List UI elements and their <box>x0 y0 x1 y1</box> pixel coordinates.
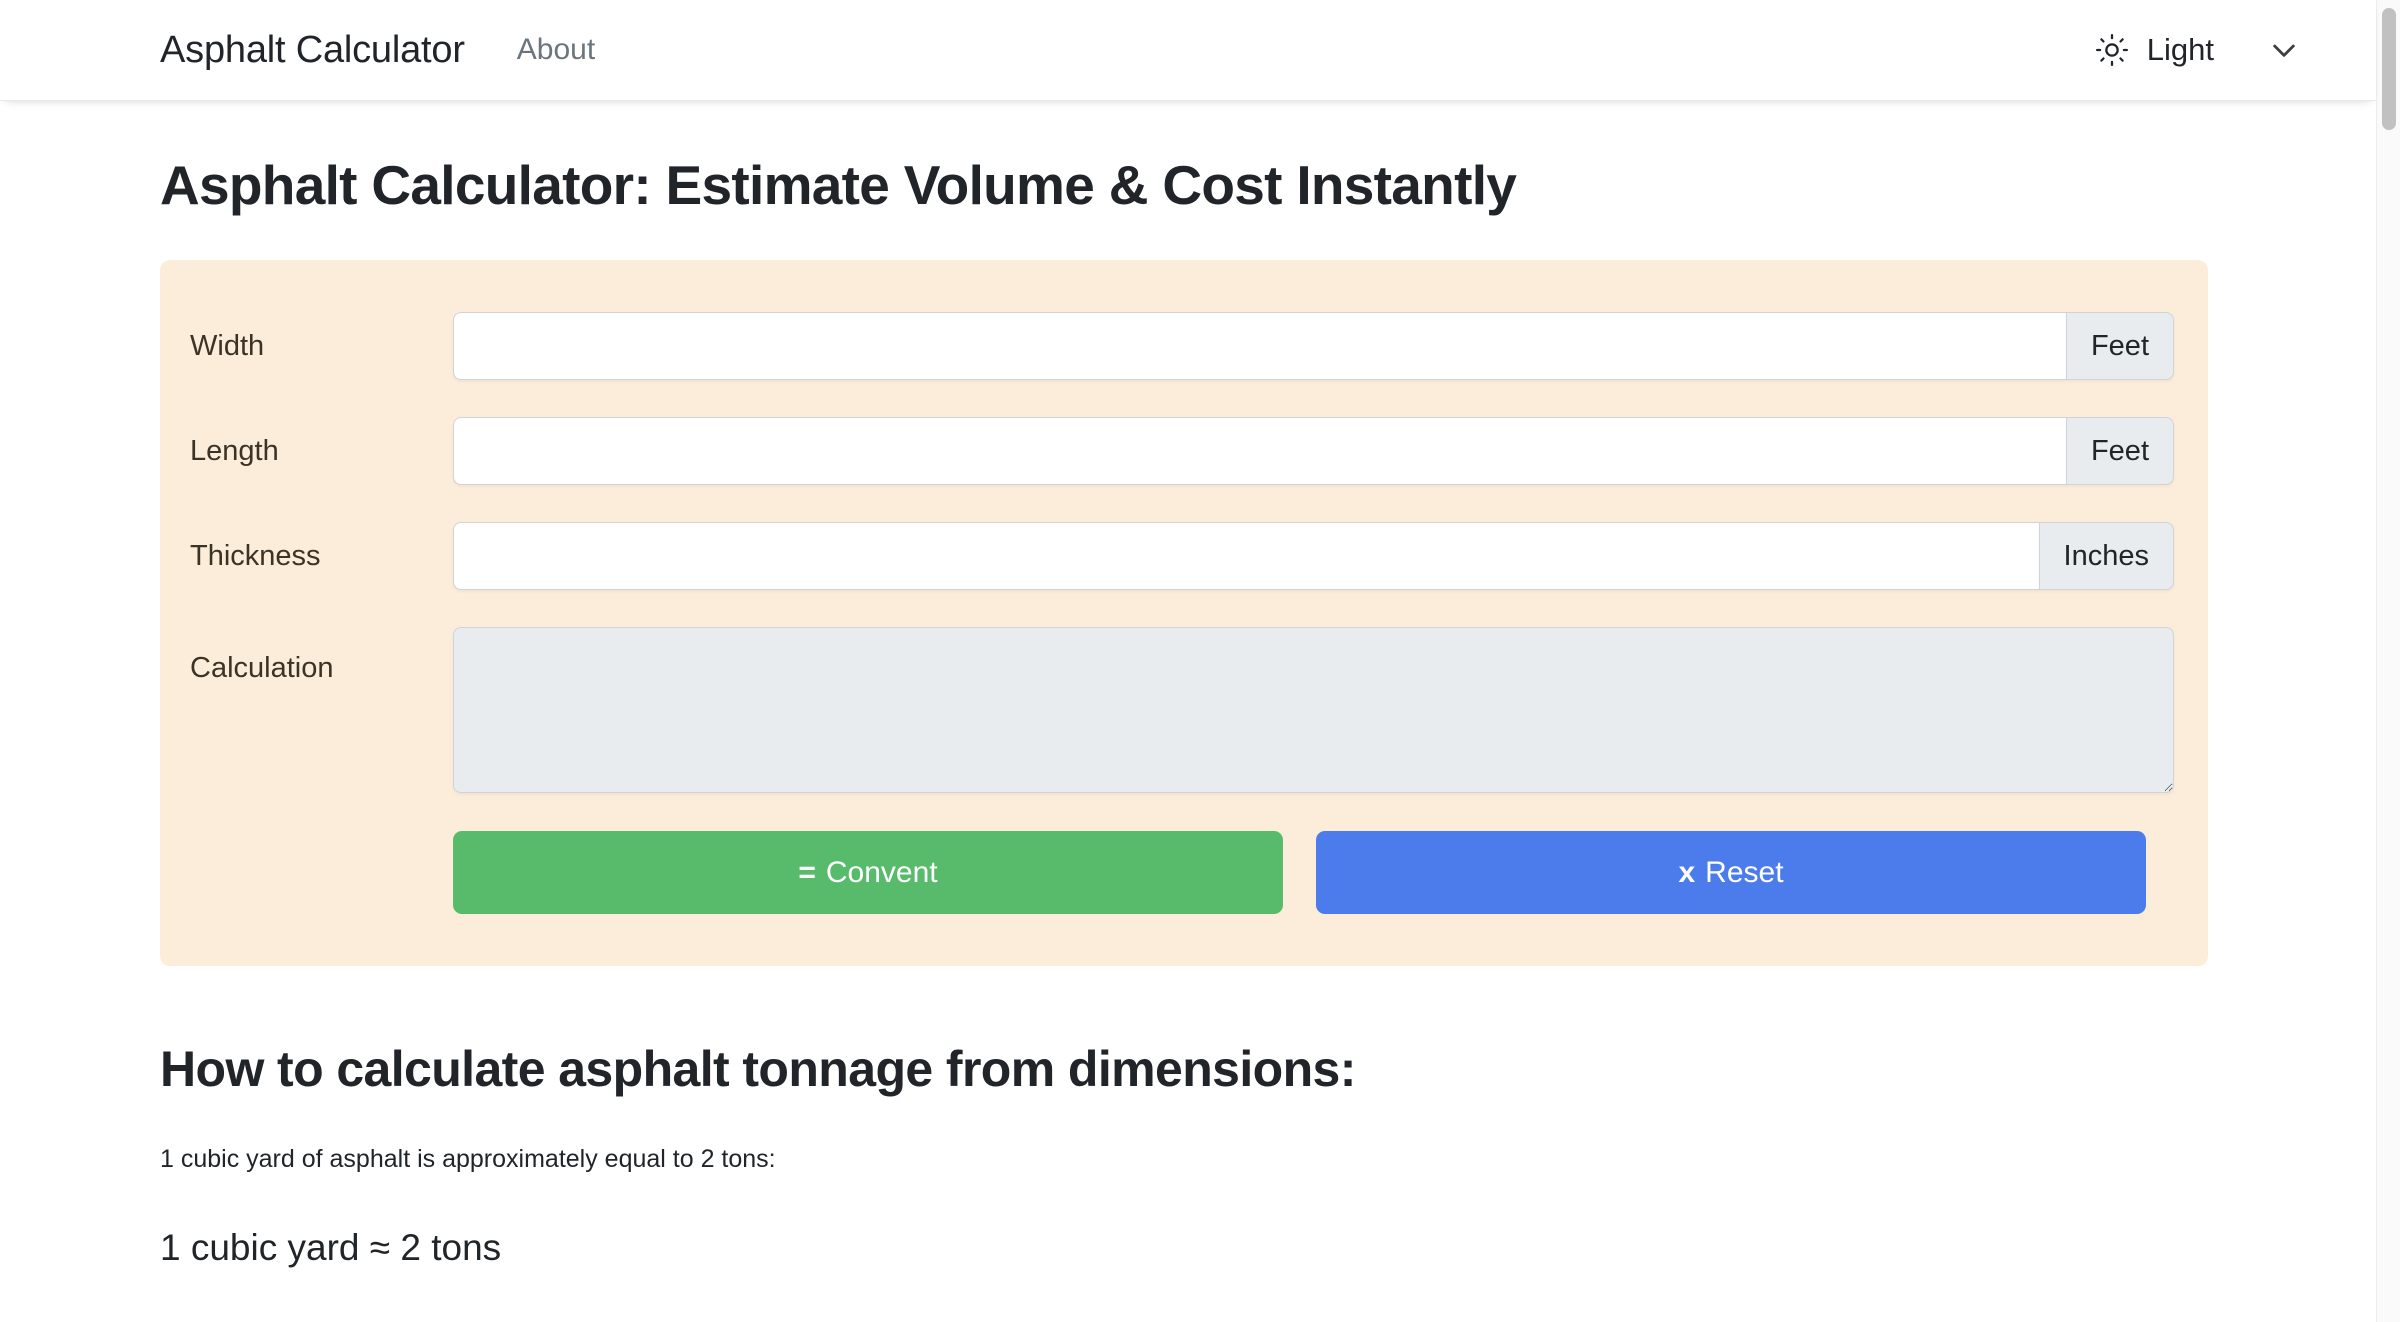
convert-glyph: = <box>798 856 816 890</box>
thickness-unit-addon[interactable]: Inches <box>2039 522 2174 590</box>
form-row-calculation: Calculation <box>160 627 2174 793</box>
browser-viewport: Asphalt Calculator About <box>0 0 2400 1322</box>
page-title: Asphalt Calculator: Estimate Volume & Co… <box>160 154 2216 217</box>
page-content: Asphalt Calculator About <box>0 0 2376 1322</box>
brand-link[interactable]: Asphalt Calculator <box>160 29 465 72</box>
howto-section: How to calculate asphalt tonnage from di… <box>160 1040 2216 1273</box>
label-thickness: Thickness <box>160 539 453 574</box>
vertical-scrollbar-thumb[interactable] <box>2382 8 2396 130</box>
thickness-input[interactable] <box>453 522 2039 590</box>
reset-label: Reset <box>1705 856 1783 890</box>
convert-button[interactable]: = Convent <box>453 831 1283 914</box>
width-unit-addon[interactable]: Feet <box>2066 312 2174 380</box>
theme-label: Light <box>2147 32 2214 68</box>
input-group-thickness: Inches <box>453 522 2174 590</box>
label-length: Length <box>160 434 453 469</box>
calculation-textarea[interactable] <box>453 627 2174 793</box>
sun-icon <box>2095 33 2129 67</box>
nav-links: About <box>517 33 595 67</box>
chevron-down-icon[interactable] <box>2232 34 2300 66</box>
label-calculation: Calculation <box>160 627 453 686</box>
length-input[interactable] <box>453 417 2066 485</box>
width-input[interactable] <box>453 312 2066 380</box>
calculator-button-row: = Convent x Reset <box>160 831 2174 914</box>
input-group-width: Feet <box>453 312 2174 380</box>
main-content: Asphalt Calculator: Estimate Volume & Co… <box>0 154 2376 1274</box>
input-group-calculation <box>453 627 2174 793</box>
vertical-scrollbar-track[interactable] <box>2376 0 2400 1322</box>
theme-switcher[interactable]: Light <box>2095 32 2316 68</box>
calculator-card: Width Feet Length Feet Thickness <box>160 260 2208 966</box>
nav-link-about[interactable]: About <box>517 33 595 67</box>
length-unit-addon[interactable]: Feet <box>2066 417 2174 485</box>
convert-label: Convent <box>826 856 938 890</box>
reset-button[interactable]: x Reset <box>1316 831 2146 914</box>
howto-formula: 1 cubic yard ≈ 2 tons <box>160 1222 2216 1274</box>
top-navbar: Asphalt Calculator About <box>0 0 2376 100</box>
reset-glyph: x <box>1678 856 1695 890</box>
label-width: Width <box>160 329 453 364</box>
form-row-length: Length Feet <box>160 417 2174 485</box>
form-row-thickness: Thickness Inches <box>160 522 2174 590</box>
form-row-width: Width Feet <box>160 312 2174 380</box>
howto-title: How to calculate asphalt tonnage from di… <box>160 1040 2216 1098</box>
input-group-length: Feet <box>453 417 2174 485</box>
howto-intro: 1 cubic yard of asphalt is approximately… <box>160 1141 2216 1179</box>
